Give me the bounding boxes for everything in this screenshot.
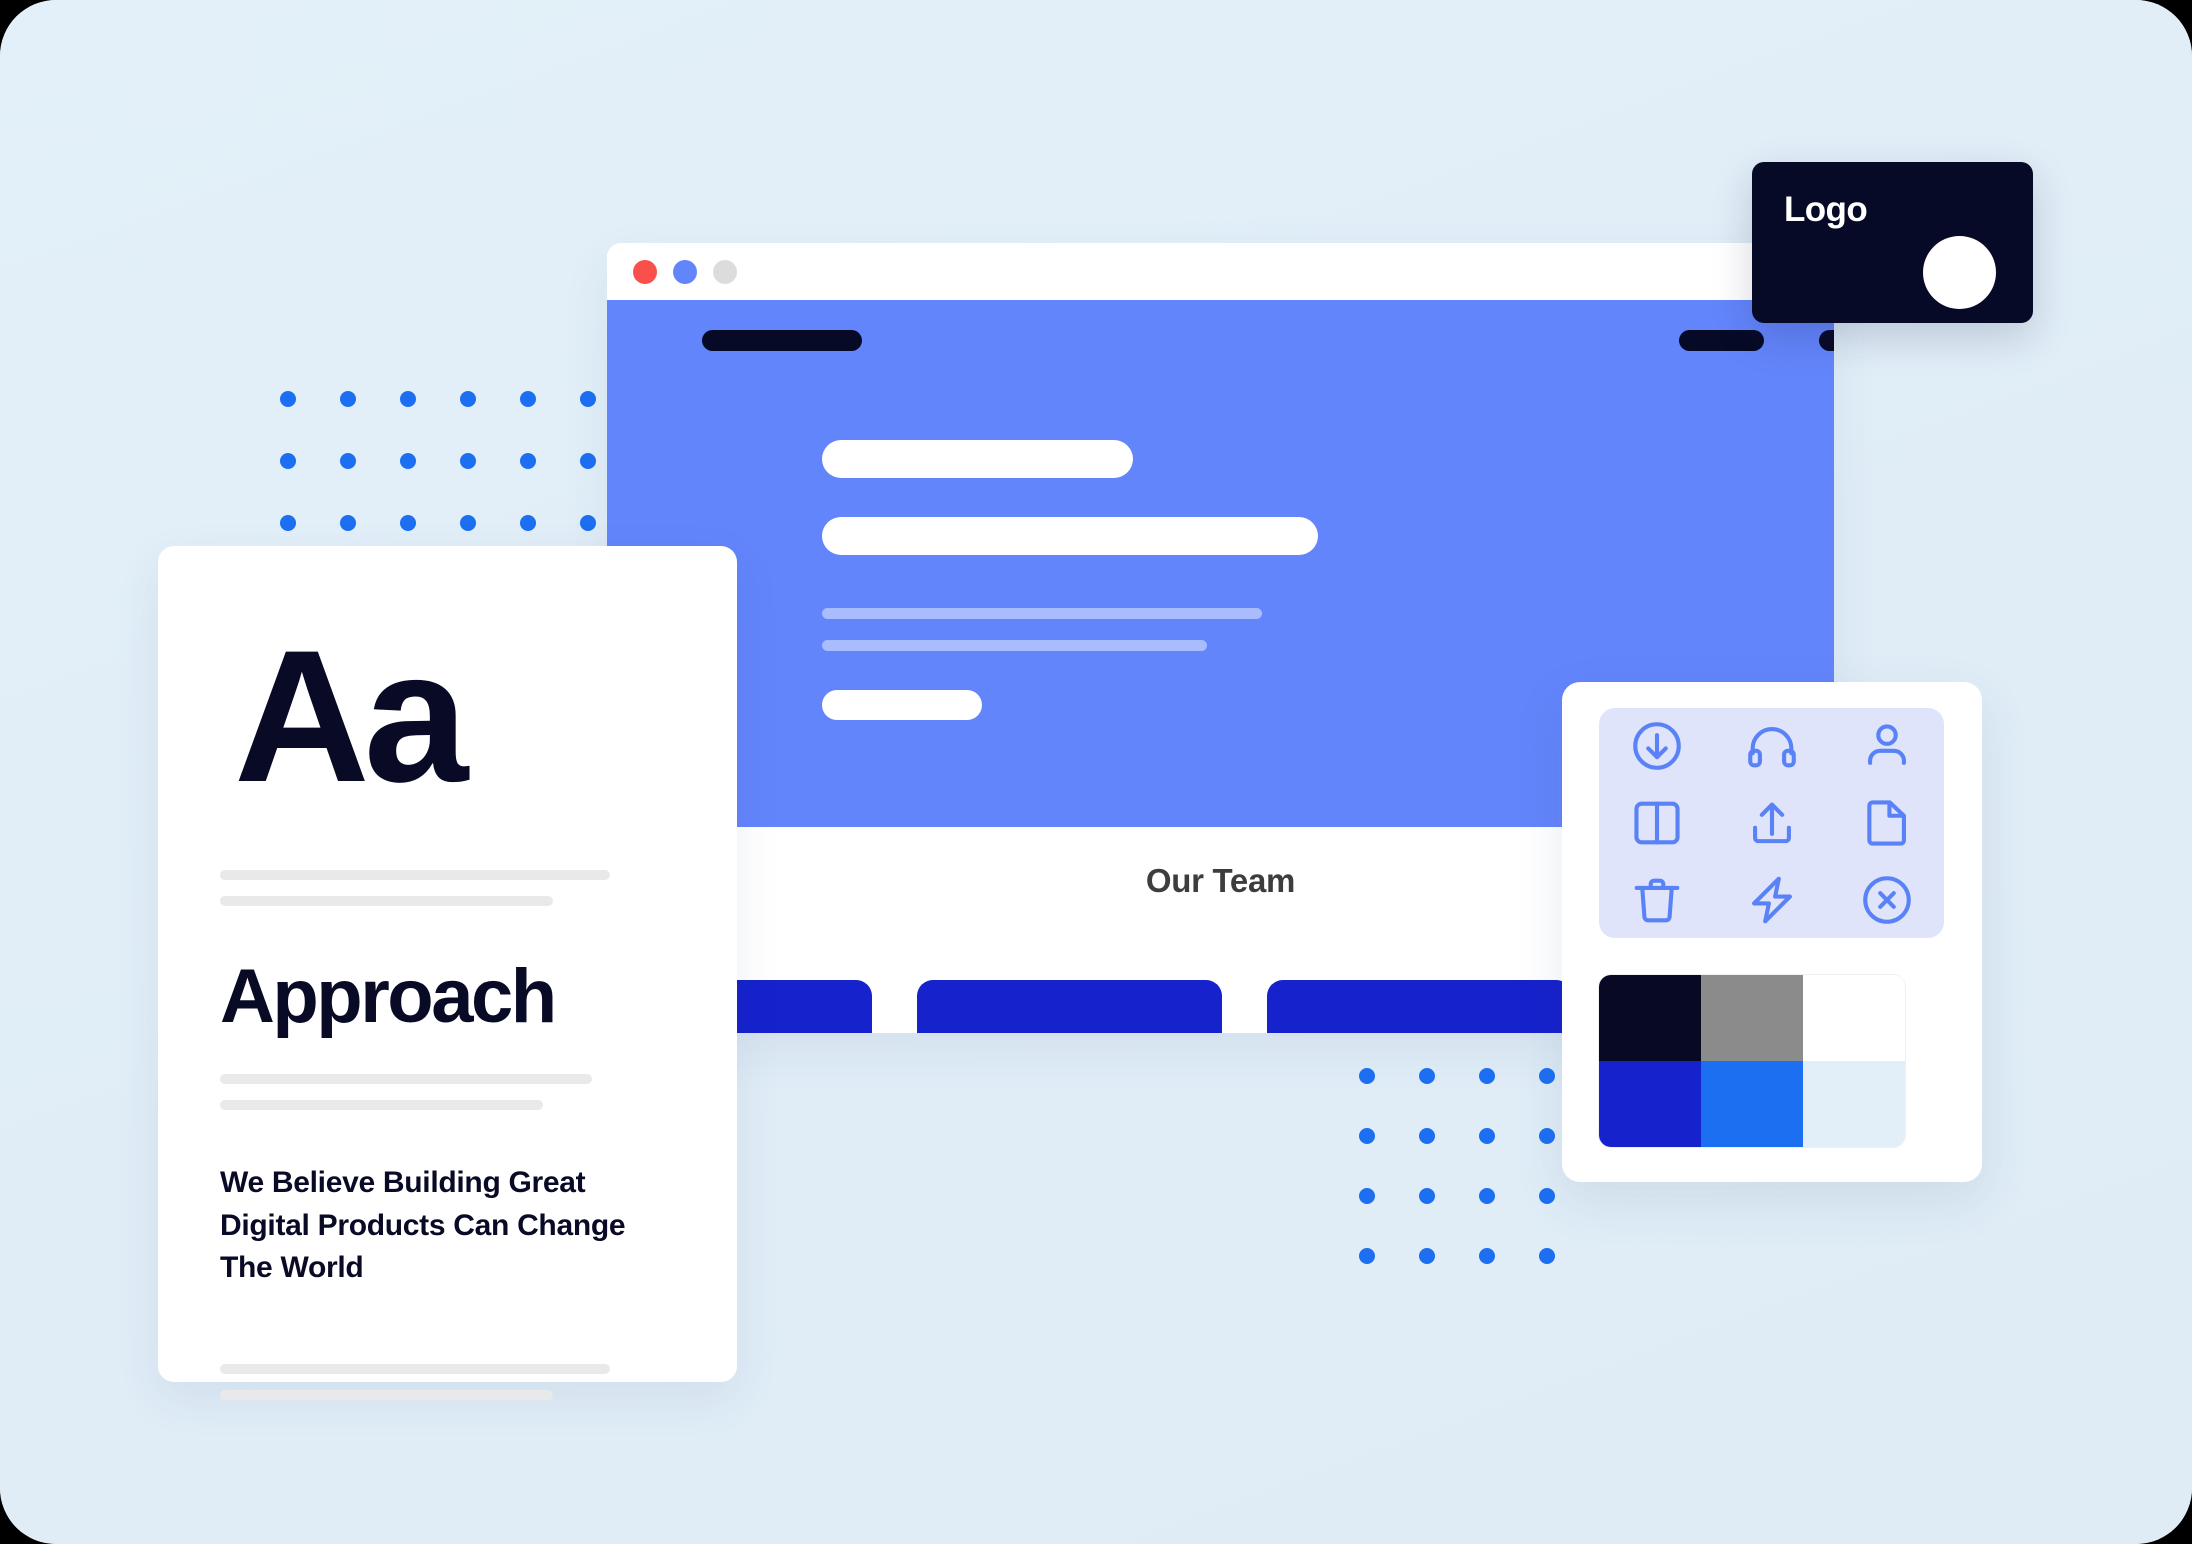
dot-cell [1457,1226,1517,1286]
color-palette [1599,975,1905,1147]
dot [460,453,476,469]
dot-cell [1337,1226,1397,1286]
dot-cell [1337,1166,1397,1226]
minimize-traffic-light-icon[interactable] [673,260,697,284]
placeholder-rule [220,1074,592,1084]
palette-swatch-gray[interactable] [1701,975,1803,1061]
dot-cell [1337,1046,1397,1106]
dot-cell [438,430,498,492]
file-document-icon[interactable] [1829,785,1944,862]
dot [1539,1188,1555,1204]
dot [1539,1248,1555,1264]
dot [340,515,356,531]
dot-cell [378,430,438,492]
dot-cell [318,368,378,430]
dot [1479,1248,1495,1264]
dot [1359,1248,1375,1264]
dot-cell [378,492,438,554]
nav-brand-placeholder[interactable] [702,330,862,351]
dot [1359,1188,1375,1204]
team-member-card[interactable] [1267,980,1572,1033]
hero-body-line-two [822,640,1207,651]
dot-cell [498,492,558,554]
dot [1419,1128,1435,1144]
dot-cell [258,368,318,430]
browser-titlebar [607,243,1834,300]
dot-cell [438,368,498,430]
dot [400,453,416,469]
dot [280,515,296,531]
upload-icon[interactable] [1714,785,1829,862]
hero-cta-placeholder[interactable] [822,690,982,720]
logo-label: Logo [1784,190,1867,230]
placeholder-rule [220,896,553,906]
type-specimen-aa: Aa [234,622,462,810]
dot [340,453,356,469]
assets-panel [1562,682,1982,1182]
logo-card: Logo [1752,162,2033,323]
dot [460,515,476,531]
dot [1539,1128,1555,1144]
dot [1419,1188,1435,1204]
hero-body-line-one [822,608,1262,619]
hero-subtitle-placeholder [822,517,1318,555]
hero-title-placeholder [822,440,1133,478]
dot [1539,1068,1555,1084]
dot-cell [318,430,378,492]
dot-cell [318,492,378,554]
trash-icon[interactable] [1599,861,1714,938]
palette-swatch-ink[interactable] [1599,975,1701,1061]
dot-cell [258,430,318,492]
zoom-traffic-light-icon[interactable] [713,260,737,284]
palette-swatch-pale-blue[interactable] [1803,1061,1905,1147]
lightning-bolt-icon[interactable] [1714,861,1829,938]
dot [580,453,596,469]
dot-grid-right [1337,1046,1577,1286]
dot [1479,1068,1495,1084]
placeholder-rule [220,870,610,880]
brand-tagline: We Believe Building Great Digital Produc… [220,1162,640,1290]
placeholder-rule [220,1100,543,1110]
approach-heading: Approach [220,959,555,1035]
dot [400,391,416,407]
dot-cell [1397,1226,1457,1286]
dot [520,453,536,469]
dot-cell [258,492,318,554]
download-circle-icon[interactable] [1599,708,1714,785]
dot-grid-left [258,368,618,554]
dot [1359,1068,1375,1084]
dot [1419,1068,1435,1084]
dot [340,391,356,407]
dot [1419,1248,1435,1264]
dot-cell [1337,1106,1397,1166]
close-circle-icon[interactable] [1829,861,1944,938]
dot-cell [1397,1046,1457,1106]
icon-grid [1599,708,1944,938]
dot [280,391,296,407]
dot [580,515,596,531]
dot-cell [1457,1046,1517,1106]
dot [580,391,596,407]
team-member-card[interactable] [917,980,1222,1033]
dot [1479,1188,1495,1204]
dot-cell [1457,1106,1517,1166]
columns-layout-icon[interactable] [1599,785,1714,862]
dot-cell [378,368,438,430]
dot [520,515,536,531]
dot-cell [498,368,558,430]
nav-link-placeholder-one[interactable] [1679,330,1764,351]
dot-cell [438,492,498,554]
user-icon[interactable] [1829,708,1944,785]
dot-cell [498,430,558,492]
palette-swatch-bright-blue[interactable] [1701,1061,1803,1147]
placeholder-rule [220,1390,553,1400]
dot [460,391,476,407]
dot [280,453,296,469]
dot [520,391,536,407]
dot-cell [1517,1226,1577,1286]
dot-cell [1397,1106,1457,1166]
dot [400,515,416,531]
dot [1479,1128,1495,1144]
nav-link-placeholder-two[interactable] [1819,330,1834,351]
dot-cell [1397,1166,1457,1226]
brand-showcase-canvas: Our Team Aa Approach We Believe Bui [0,0,2192,1544]
palette-swatch-deep-blue[interactable] [1599,1061,1701,1147]
palette-swatch-white[interactable] [1803,975,1905,1061]
logo-circle-mark [1923,236,1996,309]
dot-cell [1457,1166,1517,1226]
close-traffic-light-icon[interactable] [633,260,657,284]
dot [1359,1128,1375,1144]
headphones-icon[interactable] [1714,708,1829,785]
typography-card: Aa Approach We Believe Building Great Di… [158,546,737,1382]
placeholder-rule [220,1364,610,1374]
